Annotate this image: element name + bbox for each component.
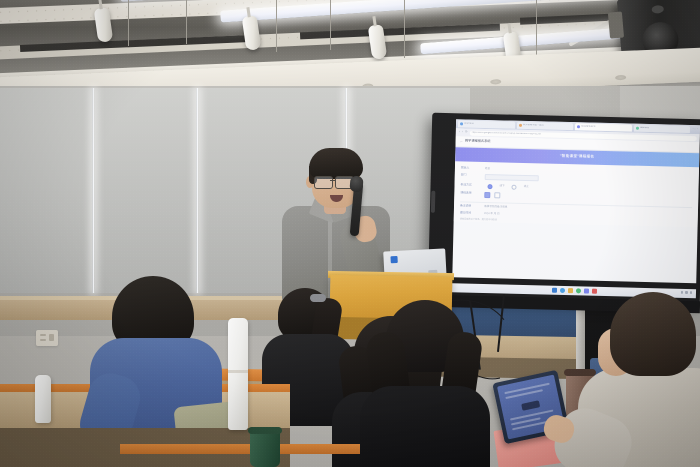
interactive-flat-panel-display[interactable]: 受课申请 教学管理系统 - 首页 在线报名表单 课程信息 − □ × ‹ xyxy=(428,113,700,305)
tab-favicon-icon xyxy=(577,125,580,128)
tab-favicon-icon xyxy=(519,124,522,127)
chat-icon[interactable] xyxy=(583,288,588,293)
field-label-course: 课程选择 xyxy=(460,192,480,196)
department-input[interactable] xyxy=(485,174,539,181)
radio-online[interactable] xyxy=(512,184,517,189)
url-text: https://docs.google.com/forms/d/e/1FAIpQ… xyxy=(472,132,542,136)
remark-placeholder[interactable]: 请填写您的备注信息 xyxy=(484,205,507,209)
white-water-bottle-left[interactable] xyxy=(35,375,51,423)
laptop-logo-icon xyxy=(390,256,397,263)
submit-time-value: 2024 年 月 日 xyxy=(484,212,500,216)
browser-tab-label: 课程信息 xyxy=(640,127,650,130)
tab-favicon-icon xyxy=(636,127,639,130)
radio-label-online: 线上 xyxy=(524,185,529,188)
form-banner-title: “智能课堂”课程报名 xyxy=(560,155,594,159)
green-travel-mug[interactable] xyxy=(250,430,280,467)
eyeglasses-left-lens xyxy=(314,176,333,189)
browser-tab-label: 在线报名表单 xyxy=(581,126,595,129)
tablet-content-block xyxy=(521,400,540,411)
field-label-department: 部门 xyxy=(461,174,481,178)
start-icon[interactable] xyxy=(551,288,556,293)
explorer-icon[interactable] xyxy=(567,288,572,293)
field-label-attend-mode: 参加方式 xyxy=(460,184,480,188)
browser-tab-label: 教学管理系统 - 首页 xyxy=(523,124,544,127)
browser-tab-3[interactable]: 课程信息 xyxy=(634,125,691,133)
browser-icon[interactable] xyxy=(575,288,580,293)
wall-power-outlet xyxy=(36,330,58,346)
web-page: ← 教学课程报名系统 “智能课堂”课程报名 联系人 姓名 部门 xyxy=(454,136,700,227)
presenter-hair xyxy=(309,148,363,179)
hair-tie xyxy=(310,294,326,302)
browser-tab-label: 受课申请 xyxy=(464,123,474,126)
tab-favicon-icon xyxy=(460,122,463,125)
reload-icon[interactable]: ⟳ xyxy=(465,131,468,134)
back-arrow-icon[interactable]: ‹ xyxy=(459,131,460,134)
blind-light-gap-2 xyxy=(196,88,199,293)
radio-label-offline: 线下 xyxy=(499,185,504,188)
forward-arrow-icon[interactable]: › xyxy=(462,131,463,134)
audience-member-right-center xyxy=(370,300,492,467)
audience-member-cream-sweater xyxy=(592,292,700,467)
white-water-bottle-center[interactable] xyxy=(228,318,248,430)
search-icon[interactable] xyxy=(559,288,564,293)
browser-tab-0[interactable]: 受课申请 xyxy=(458,120,515,128)
field-label-submit-time: 提交时间 xyxy=(460,212,480,216)
lecture-hall-photo: 受课申请 教学管理系统 - 首页 在线报名表单 课程信息 − □ × ‹ xyxy=(0,0,700,467)
field-label-remark: 备注说明 xyxy=(460,204,480,208)
blind-light-gap-1 xyxy=(92,88,95,293)
field-label-contact: 联系人 xyxy=(461,166,481,170)
course-checkbox-2[interactable] xyxy=(494,192,500,198)
browser-tab-1[interactable]: 教学管理系统 - 首页 xyxy=(517,122,574,130)
course-checkbox-1[interactable] xyxy=(484,192,490,198)
page-back-icon[interactable]: ← xyxy=(460,139,463,143)
display-side-button[interactable] xyxy=(431,191,436,213)
registration-form[interactable]: 联系人 姓名 部门 参加方式 线下 线上 课程 xyxy=(454,161,699,227)
window-controls[interactable]: − □ × xyxy=(692,128,698,131)
page-title: 教学课程报名系统 xyxy=(465,140,491,144)
browser-tab-2-active[interactable]: 在线报名表单 xyxy=(575,123,632,131)
display-screen[interactable]: 受课申请 教学管理系统 - 首页 在线报名表单 课程信息 − □ × ‹ xyxy=(452,119,700,283)
field-value-contact[interactable]: 姓名 xyxy=(485,167,490,170)
radio-offline[interactable] xyxy=(487,184,492,189)
